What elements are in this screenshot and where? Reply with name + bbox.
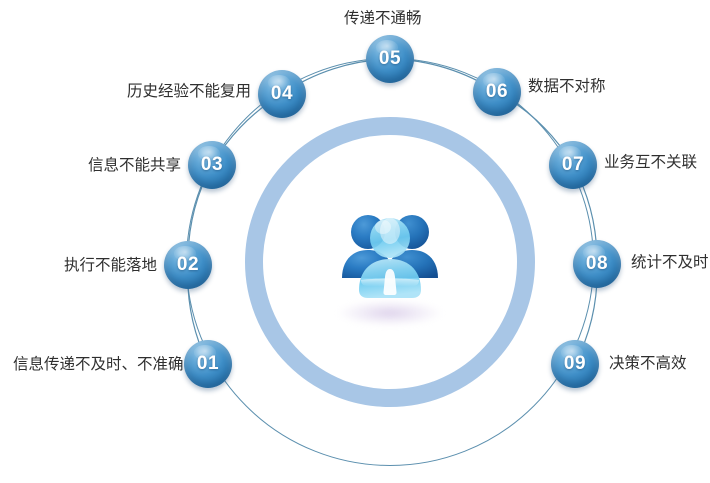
node-bubble-01[interactable]: 01 xyxy=(184,340,232,388)
node-bubble-03[interactable]: 03 xyxy=(188,141,236,189)
node-number-08: 08 xyxy=(586,253,608,275)
node-number-05: 05 xyxy=(379,48,401,70)
node-bubble-06[interactable]: 06 xyxy=(473,68,521,116)
node-number-03: 03 xyxy=(201,154,223,176)
node-number-07: 07 xyxy=(562,154,584,176)
node-label-01: 信息传递不及时、不准确 xyxy=(13,354,184,374)
node-bubble-05[interactable]: 05 xyxy=(366,35,414,83)
node-number-01: 01 xyxy=(197,353,219,375)
node-label-03: 信息不能共享 xyxy=(88,155,181,175)
infographic-canvas: 01信息传递不及时、不准确02执行不能落地03信息不能共享04历史经验不能复用0… xyxy=(0,0,710,483)
node-label-07: 业务互不关联 xyxy=(604,152,697,172)
node-number-06: 06 xyxy=(486,81,508,103)
node-bubble-08[interactable]: 08 xyxy=(573,240,621,288)
node-label-08: 统计不及时 xyxy=(631,252,709,272)
node-number-04: 04 xyxy=(271,83,293,105)
node-label-06: 数据不对称 xyxy=(528,76,606,96)
node-number-09: 09 xyxy=(564,353,586,375)
node-bubble-04[interactable]: 04 xyxy=(258,70,306,118)
node-label-02: 执行不能落地 xyxy=(64,255,157,275)
node-label-05: 传递不通畅 xyxy=(344,8,422,28)
node-label-04: 历史经验不能复用 xyxy=(127,81,251,101)
node-label-09: 决策不高效 xyxy=(609,353,687,373)
node-bubble-07[interactable]: 07 xyxy=(549,141,597,189)
node-bubble-02[interactable]: 02 xyxy=(164,241,212,289)
node-bubble-09[interactable]: 09 xyxy=(551,340,599,388)
node-number-02: 02 xyxy=(177,254,199,276)
